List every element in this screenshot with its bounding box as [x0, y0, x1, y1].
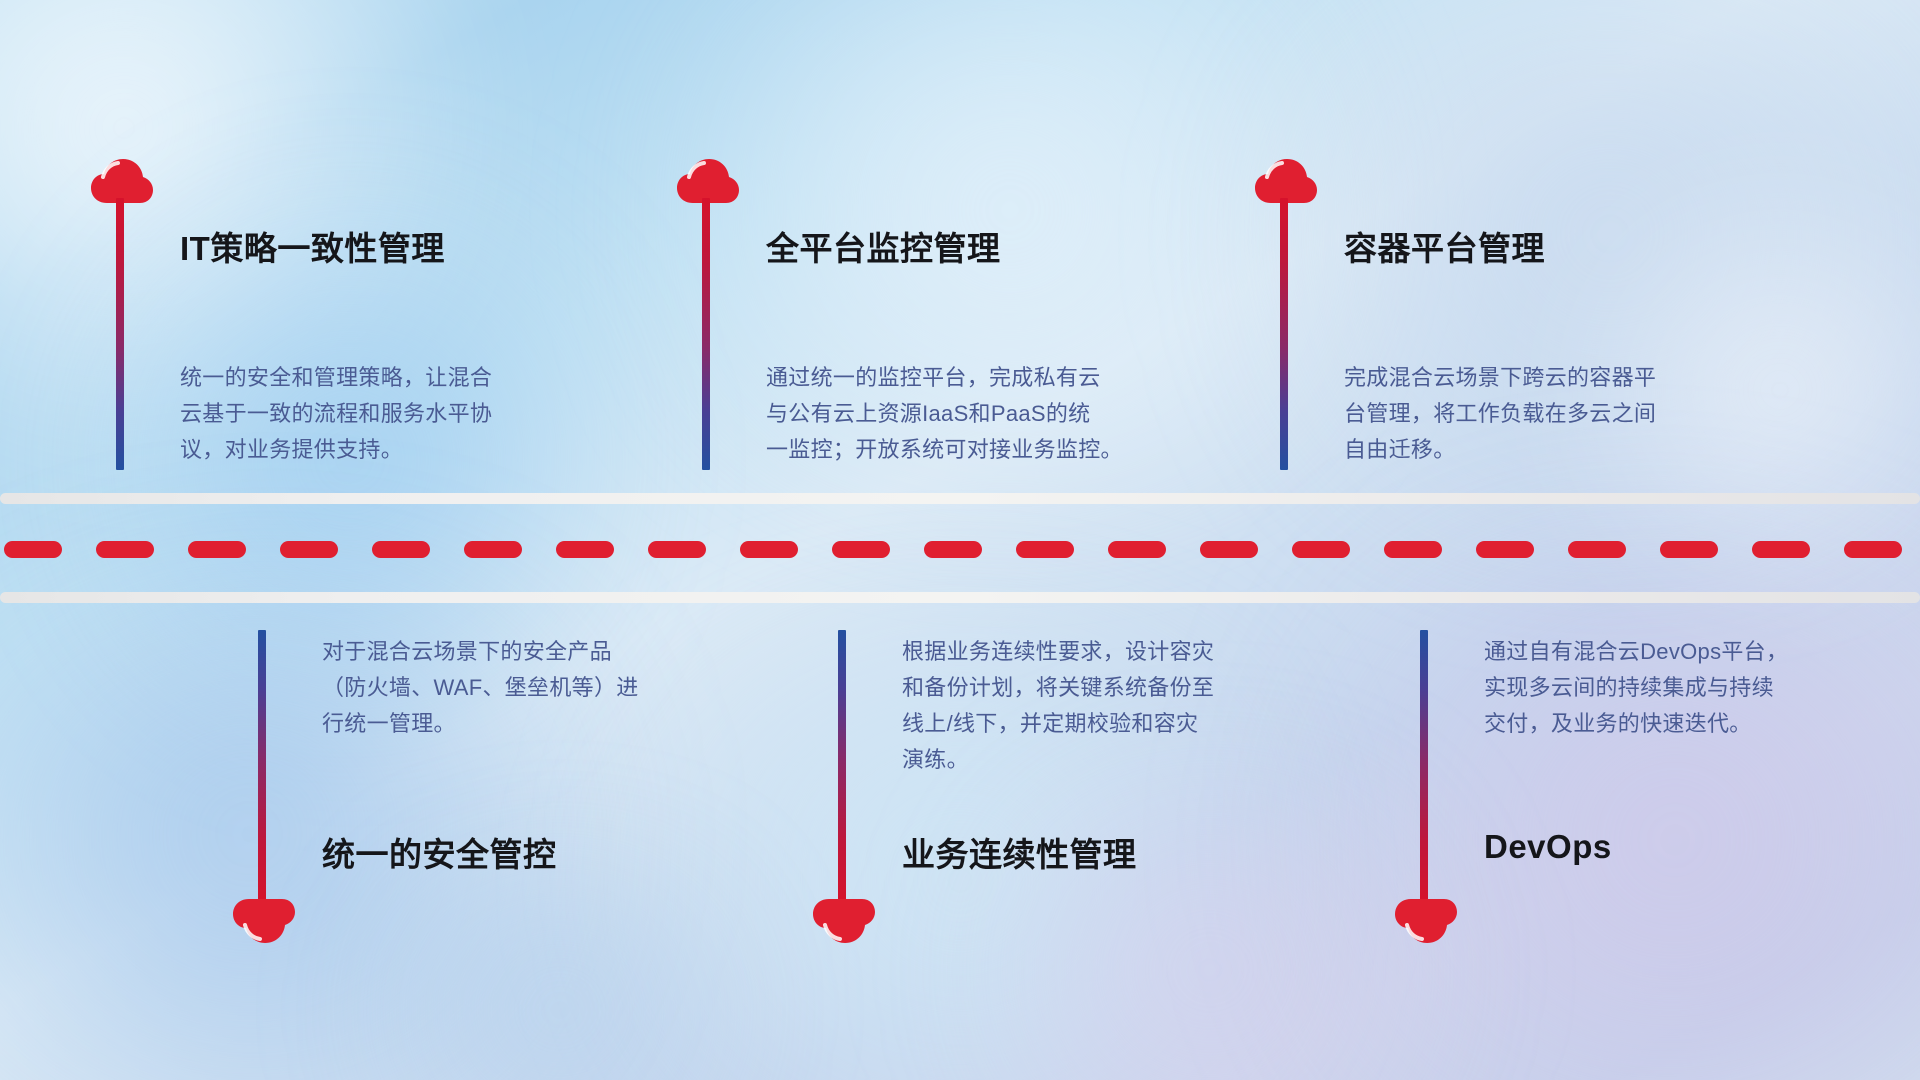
body-line: 自由迁移。 — [1344, 432, 1774, 468]
card-body: 统一的安全和管理策略，让混合 云基于一致的流程和服务水平协 议，对业务提供支持。 — [180, 360, 610, 468]
road-dash — [740, 541, 798, 558]
infographic-canvas: IT策略一致性管理 统一的安全和管理策略，让混合 云基于一致的流程和服务水平协 … — [0, 0, 1920, 1080]
road-dash — [372, 541, 430, 558]
body-line: 台管理，将工作负载在多云之间 — [1344, 396, 1774, 432]
card-title: IT策略一致性管理 — [180, 222, 445, 270]
road-line-upper — [0, 493, 1920, 504]
body-line: 演练。 — [902, 742, 1332, 778]
card-body: 根据业务连续性要求，设计容灾 和备份计划，将关键系统备份至 线上/线下，并定期校… — [902, 634, 1332, 778]
road-dash — [464, 541, 522, 558]
body-line: 根据业务连续性要求，设计容灾 — [902, 634, 1332, 670]
road-dash — [280, 541, 338, 558]
road-dash — [648, 541, 706, 558]
cloud-icon — [812, 898, 876, 944]
marker-stem — [838, 630, 846, 902]
body-line: 云基于一致的流程和服务水平协 — [180, 396, 610, 432]
card-title: DevOps — [1484, 828, 1612, 866]
marker-stem — [1280, 198, 1288, 470]
body-line: 实现多云间的持续集成与持续 — [1484, 670, 1914, 706]
road-dash — [1108, 541, 1166, 558]
background-glow-j — [300, 860, 820, 1080]
marker-stem — [116, 198, 124, 470]
road-dash — [1752, 541, 1810, 558]
cloud-icon — [232, 898, 296, 944]
road-dash — [4, 541, 62, 558]
marker-stem — [258, 630, 266, 902]
road-dash — [1844, 541, 1902, 558]
road-dash — [1200, 541, 1258, 558]
body-line: 通过统一的监控平台，完成私有云 — [766, 360, 1196, 396]
body-line: 与公有云上资源IaaS和PaaS的统 — [766, 396, 1196, 432]
card-body: 通过统一的监控平台，完成私有云 与公有云上资源IaaS和PaaS的统 一监控；开… — [766, 360, 1196, 468]
body-line: 通过自有混合云DevOps平台， — [1484, 634, 1914, 670]
road-dash — [96, 541, 154, 558]
body-line: 交付，及业务的快速迭代。 — [1484, 706, 1914, 742]
card-body: 通过自有混合云DevOps平台， 实现多云间的持续集成与持续 交付，及业务的快速… — [1484, 634, 1914, 742]
body-line: 一监控；开放系统可对接业务监控。 — [766, 432, 1196, 468]
road-dash — [1660, 541, 1718, 558]
card-body: 完成混合云场景下跨云的容器平 台管理，将工作负载在多云之间 自由迁移。 — [1344, 360, 1774, 468]
card-title: 全平台监控管理 — [766, 222, 1001, 270]
road-dash — [1016, 541, 1074, 558]
road-dash — [188, 541, 246, 558]
body-line: 统一的安全和管理策略，让混合 — [180, 360, 610, 396]
body-line: （防火墙、WAF、堡垒机等）进 — [322, 670, 752, 706]
body-line: 对于混合云场景下的安全产品 — [322, 634, 752, 670]
body-line: 线上/线下，并定期校验和容灾 — [902, 706, 1332, 742]
road-dash — [832, 541, 890, 558]
marker-stem — [1420, 630, 1428, 902]
cloud-icon — [1394, 898, 1458, 944]
road-dash — [1384, 541, 1442, 558]
marker-stem — [702, 198, 710, 470]
body-line: 行统一管理。 — [322, 706, 752, 742]
road-line-lower — [0, 592, 1920, 603]
road-dash — [1292, 541, 1350, 558]
card-body: 对于混合云场景下的安全产品 （防火墙、WAF、堡垒机等）进 行统一管理。 — [322, 634, 752, 742]
card-title: 业务连续性管理 — [902, 828, 1137, 876]
road-dash — [1568, 541, 1626, 558]
body-line: 议，对业务提供支持。 — [180, 432, 610, 468]
body-line: 和备份计划，将关键系统备份至 — [902, 670, 1332, 706]
card-title: 统一的安全管控 — [322, 828, 557, 876]
body-line: 完成混合云场景下跨云的容器平 — [1344, 360, 1774, 396]
road-dash — [1476, 541, 1534, 558]
road-dash — [924, 541, 982, 558]
road-center-dashes — [0, 540, 1920, 558]
road-dash — [556, 541, 614, 558]
card-title: 容器平台管理 — [1344, 222, 1545, 270]
